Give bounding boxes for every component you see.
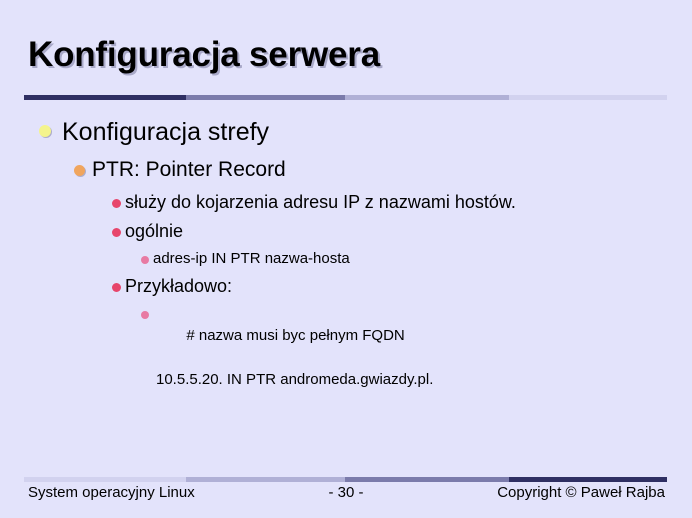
list-item-label: ogólnie: [125, 217, 692, 246]
bullet-level4-icon: [141, 256, 149, 264]
bullet-level3-icon: [112, 283, 121, 292]
code-record-line: 10.5.5.20. IN PTR andromeda.gwiazdy.pl.: [153, 369, 692, 391]
list-item-label: Przykładowo:: [125, 272, 692, 301]
slide-content-list: Konfiguracja strefy PTR: Pointer Record …: [0, 112, 692, 345]
list-item: # nazwa musi byc pełnym FQDN 10.5.5.20. …: [0, 301, 692, 345]
list-item-label: służy do kojarzenia adresu IP z nazwami …: [125, 188, 692, 217]
slide-canvas: Konfiguracja serwera Konfiguracja strefy…: [0, 0, 692, 518]
footer-divider-rule: [24, 477, 667, 482]
rule-segment-4: [509, 95, 667, 100]
rule-segment-1: [24, 477, 186, 482]
slide-footer: System operacyjny Linux - 30 - Copyright…: [0, 484, 692, 508]
rule-segment-3: [345, 477, 508, 482]
list-item-label: Konfiguracja strefy: [62, 112, 692, 152]
list-item: ogólnie: [0, 217, 692, 246]
footer-copyright: Copyright © Paweł Rajba: [497, 484, 665, 501]
bullet-level3-icon: [112, 199, 121, 208]
list-item: służy do kojarzenia adresu IP z nazwami …: [0, 188, 692, 217]
list-item-label: adres-ip IN PTR nazwa-hosta: [153, 246, 692, 272]
list-item: PTR: Pointer Record: [0, 152, 692, 188]
rule-segment-1: [24, 95, 186, 100]
list-item: Przykładowo:: [0, 272, 692, 301]
rule-segment-3: [345, 95, 508, 100]
list-item-label: # nazwa musi byc pełnym FQDN 10.5.5.20. …: [153, 301, 692, 435]
title-divider-rule: [24, 95, 667, 100]
rule-segment-2: [186, 477, 345, 482]
rule-segment-2: [186, 95, 345, 100]
page-title: Konfiguracja serwera: [28, 35, 380, 75]
bullet-level2-icon: [74, 165, 85, 176]
code-comment-line: # nazwa musi byc pełnym FQDN: [186, 327, 404, 344]
bullet-level1-icon: [39, 125, 51, 137]
list-item: Konfiguracja strefy: [0, 112, 692, 152]
list-item: adres-ip IN PTR nazwa-hosta: [0, 246, 692, 272]
bullet-level4-icon: [141, 311, 149, 319]
bullet-level3-icon: [112, 228, 121, 237]
rule-segment-4: [509, 477, 667, 482]
list-item-label: PTR: Pointer Record: [92, 152, 692, 188]
